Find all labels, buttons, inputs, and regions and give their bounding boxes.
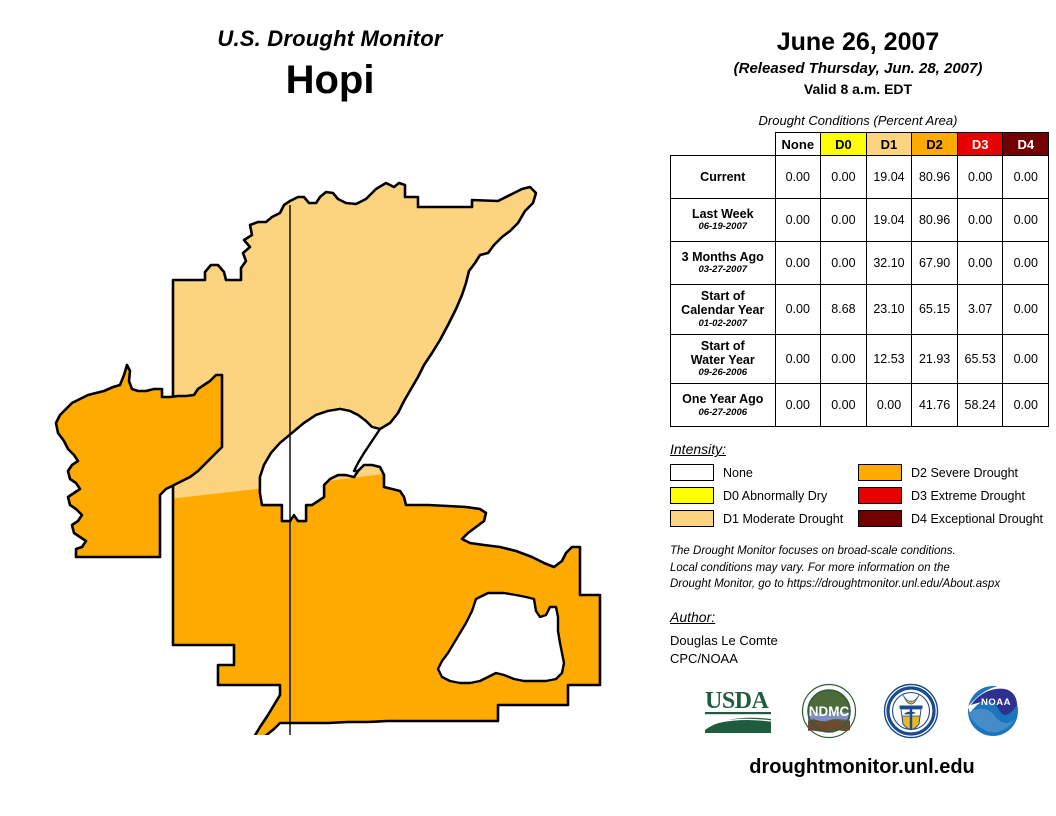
cell-d2: 65.15 bbox=[912, 285, 958, 335]
site-url[interactable]: droughtmonitor.unl.edu bbox=[660, 756, 1056, 779]
program-title: U.S. Drought Monitor bbox=[0, 26, 660, 52]
cell-d0: 0.00 bbox=[821, 384, 867, 427]
cell-d3: 0.00 bbox=[957, 156, 1003, 199]
table-row: 3 Months Ago03-27-20070.000.0032.1067.90… bbox=[671, 242, 1049, 285]
table-row: One Year Ago06-27-20060.000.000.0041.765… bbox=[671, 384, 1049, 427]
legend-label-d0: D0 Abnormally Dry bbox=[723, 489, 827, 503]
cell-none: 0.00 bbox=[775, 199, 821, 242]
col-header-d0: D0 bbox=[821, 133, 867, 156]
usdc-seal-logo[interactable] bbox=[883, 683, 939, 744]
col-header-d3: D3 bbox=[957, 133, 1003, 156]
disclaimer-line-1: The Drought Monitor focuses on broad-sca… bbox=[670, 543, 1056, 559]
row-date: 09-26-2006 bbox=[673, 368, 773, 379]
info-panel: June 26, 2007 (Released Thursday, Jun. 2… bbox=[660, 0, 1056, 816]
intensity-legend: Intensity: NoneD2 Severe DroughtD0 Abnor… bbox=[660, 441, 1056, 527]
row-label: One Year Ago06-27-2006 bbox=[671, 384, 776, 427]
svg-text:USDA: USDA bbox=[705, 688, 770, 714]
author-affiliation: CPC/NOAA bbox=[670, 650, 1056, 667]
table-row: Start ofWater Year09-26-20060.000.0012.5… bbox=[671, 334, 1049, 384]
cell-d2: 41.76 bbox=[912, 384, 958, 427]
cell-d2: 80.96 bbox=[912, 156, 958, 199]
cell-d3: 65.53 bbox=[957, 334, 1003, 384]
conditions-table-wrap: None D0 D1 D2 D3 D4 Current0.000.0019.04… bbox=[660, 132, 1056, 427]
disclaimer-line-2: Local conditions may vary. For more info… bbox=[670, 560, 1056, 576]
legend-swatch-d4 bbox=[858, 510, 902, 527]
cell-d4: 0.00 bbox=[1003, 384, 1049, 427]
svg-text:NOAA: NOAA bbox=[981, 697, 1011, 708]
legend-item-d1: D1 Moderate Drought bbox=[670, 510, 858, 527]
row-label: 3 Months Ago03-27-2007 bbox=[671, 242, 776, 285]
table-corner-cell bbox=[671, 133, 776, 156]
legend-item-d0: D0 Abnormally Dry bbox=[670, 487, 858, 504]
cell-d0: 0.00 bbox=[821, 334, 867, 384]
valid-time: Valid 8 a.m. EDT bbox=[660, 81, 1056, 97]
table-row: Current0.000.0019.0480.960.000.00 bbox=[671, 156, 1049, 199]
cell-none: 0.00 bbox=[775, 384, 821, 427]
col-header-none: None bbox=[775, 133, 821, 156]
valid-date: June 26, 2007 bbox=[660, 28, 1056, 57]
cell-d3: 0.00 bbox=[957, 242, 1003, 285]
drought-map[interactable] bbox=[28, 175, 658, 735]
disclaimer-line-3: Drought Monitor, go to https://droughtmo… bbox=[670, 576, 1056, 592]
author-heading: Author: bbox=[670, 609, 1056, 625]
intensity-heading: Intensity: bbox=[670, 441, 1056, 457]
cell-none: 0.00 bbox=[775, 242, 821, 285]
row-date: 06-27-2006 bbox=[673, 408, 773, 419]
legend-item-d2: D2 Severe Drought bbox=[858, 464, 1046, 481]
cell-d0: 0.00 bbox=[821, 156, 867, 199]
cell-d2: 21.93 bbox=[912, 334, 958, 384]
cell-d1: 23.10 bbox=[866, 285, 912, 335]
cell-d2: 80.96 bbox=[912, 199, 958, 242]
cell-d1: 32.10 bbox=[866, 242, 912, 285]
cell-d3: 0.00 bbox=[957, 199, 1003, 242]
cell-d1: 0.00 bbox=[866, 384, 912, 427]
table-row: Last Week06-19-20070.000.0019.0480.960.0… bbox=[671, 199, 1049, 242]
cell-d4: 0.00 bbox=[1003, 285, 1049, 335]
cell-none: 0.00 bbox=[775, 334, 821, 384]
legend-label-d1: D1 Moderate Drought bbox=[723, 512, 843, 526]
date-block: June 26, 2007 (Released Thursday, Jun. 2… bbox=[660, 0, 1056, 97]
drought-conditions-table: None D0 D1 D2 D3 D4 Current0.000.0019.04… bbox=[670, 132, 1049, 427]
legend-label-d2: D2 Severe Drought bbox=[911, 466, 1018, 480]
disclaimer-text: The Drought Monitor focuses on broad-sca… bbox=[660, 543, 1056, 592]
col-header-d2: D2 bbox=[912, 133, 958, 156]
svg-text:NDMC: NDMC bbox=[809, 704, 850, 719]
col-header-d4: D4 bbox=[1003, 133, 1049, 156]
row-label: Start ofWater Year09-26-2006 bbox=[671, 334, 776, 384]
released-date: (Released Thursday, Jun. 28, 2007) bbox=[660, 60, 1056, 77]
noaa-logo[interactable]: NOAA bbox=[965, 683, 1021, 744]
col-header-d1: D1 bbox=[866, 133, 912, 156]
cell-none: 0.00 bbox=[775, 156, 821, 199]
cell-d0: 0.00 bbox=[821, 199, 867, 242]
legend-label-d3: D3 Extreme Drought bbox=[911, 489, 1025, 503]
logo-row: USDA NDMC bbox=[660, 683, 1056, 744]
usda-logo[interactable]: USDA bbox=[703, 686, 775, 741]
cell-d1: 19.04 bbox=[866, 199, 912, 242]
cell-d4: 0.00 bbox=[1003, 334, 1049, 384]
table-header-row: None D0 D1 D2 D3 D4 bbox=[671, 133, 1049, 156]
row-date: 06-19-2007 bbox=[673, 222, 773, 233]
cell-d1: 19.04 bbox=[866, 156, 912, 199]
table-body: Current0.000.0019.0480.960.000.00Last We… bbox=[671, 156, 1049, 427]
cell-d4: 0.00 bbox=[1003, 199, 1049, 242]
legend-label-d4: D4 Exceptional Drought bbox=[911, 512, 1043, 526]
row-date: 03-27-2007 bbox=[673, 265, 773, 276]
legend-swatch-none bbox=[670, 464, 714, 481]
row-label: Last Week06-19-2007 bbox=[671, 199, 776, 242]
legend-swatch-d1 bbox=[670, 510, 714, 527]
legend-item-d3: D3 Extreme Drought bbox=[858, 487, 1046, 504]
table-row: Start ofCalendar Year01-02-20070.008.682… bbox=[671, 285, 1049, 335]
cell-d3: 3.07 bbox=[957, 285, 1003, 335]
cell-d0: 0.00 bbox=[821, 242, 867, 285]
cell-none: 0.00 bbox=[775, 285, 821, 335]
map-title-block: U.S. Drought Monitor Hopi bbox=[0, 26, 660, 103]
cell-d4: 0.00 bbox=[1003, 242, 1049, 285]
legend-grid: NoneD2 Severe DroughtD0 Abnormally DryD3… bbox=[670, 464, 1056, 527]
legend-label-none: None bbox=[723, 466, 753, 480]
legend-item-d4: D4 Exceptional Drought bbox=[858, 510, 1046, 527]
legend-swatch-d3 bbox=[858, 487, 902, 504]
legend-swatch-d0 bbox=[670, 487, 714, 504]
cell-d1: 12.53 bbox=[866, 334, 912, 384]
cell-d3: 58.24 bbox=[957, 384, 1003, 427]
row-label: Start ofCalendar Year01-02-2007 bbox=[671, 285, 776, 335]
cell-d4: 0.00 bbox=[1003, 156, 1049, 199]
ndmc-logo[interactable]: NDMC bbox=[801, 683, 857, 744]
region-title: Hopi bbox=[0, 58, 660, 103]
row-label: Current bbox=[671, 156, 776, 199]
row-date: 01-02-2007 bbox=[673, 319, 773, 330]
cell-d2: 67.90 bbox=[912, 242, 958, 285]
cell-d0: 8.68 bbox=[821, 285, 867, 335]
author-name: Douglas Le Comte bbox=[670, 632, 1056, 649]
author-block: Author: Douglas Le Comte CPC/NOAA bbox=[660, 609, 1056, 667]
table-caption: Drought Conditions (Percent Area) bbox=[660, 113, 1056, 128]
legend-item-none: None bbox=[670, 464, 858, 481]
legend-swatch-d2 bbox=[858, 464, 902, 481]
